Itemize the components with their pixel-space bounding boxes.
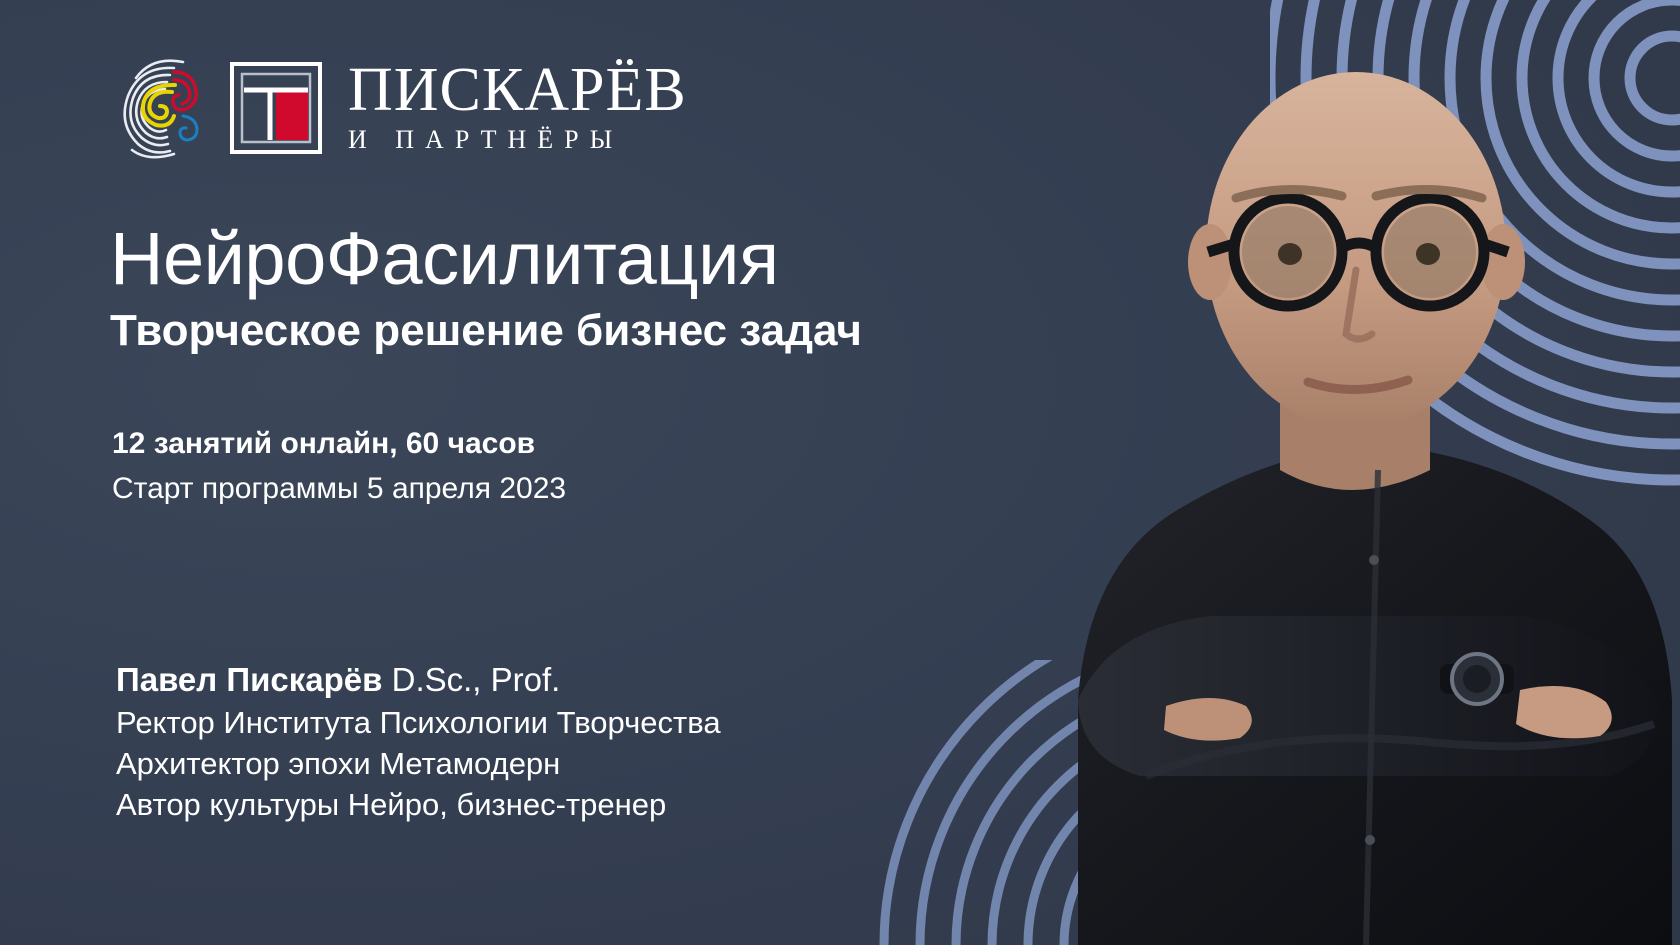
course-sessions: 12 занятий онлайн, 60 часов	[112, 424, 566, 465]
wordmark-primary: ПИСКАРЁВ	[348, 61, 687, 121]
brand-logo: ПИСКАРЁВ И ПАРТНЁРЫ	[112, 56, 687, 160]
speaker-name-line: Павел Пискарёв D.Sc., Prof.	[116, 658, 721, 702]
piskarev-g-monogram	[230, 62, 322, 154]
page-title: НейроФасилитация	[110, 222, 862, 296]
promo-poster: ПИСКАРЁВ И ПАРТНЁРЫ НейроФасилитация Тво…	[0, 0, 1680, 945]
speaker-role-2: Архитектор эпохи Метамодерн	[116, 743, 721, 784]
course-facts-block: 12 занятий онлайн, 60 часов Старт програ…	[112, 424, 566, 509]
piskarev-fingerprint-logo	[112, 56, 204, 160]
page-subtitle: Творческое решение бизнес задач	[110, 306, 862, 357]
course-start-date: Старт программы 5 апреля 2023	[112, 469, 566, 510]
wordmark-secondary: И ПАРТНЁРЫ	[348, 124, 687, 155]
speaker-block: Павел Пискарёв D.Sc., Prof. Ректор Инсти…	[116, 658, 721, 825]
brand-wordmark: ПИСКАРЁВ И ПАРТНЁРЫ	[348, 61, 687, 156]
speaker-role-1: Ректор Института Психологии Творчества	[116, 702, 721, 743]
speaker-portrait-photo	[960, 0, 1680, 945]
headline-block: НейроФасилитация Творческое решение бизн…	[110, 222, 862, 357]
speaker-degree: D.Sc., Prof.	[382, 661, 560, 698]
speaker-name: Павел Пискарёв	[116, 661, 382, 698]
speaker-role-3: Автор культуры Нейро, бизнес-тренер	[116, 784, 721, 825]
